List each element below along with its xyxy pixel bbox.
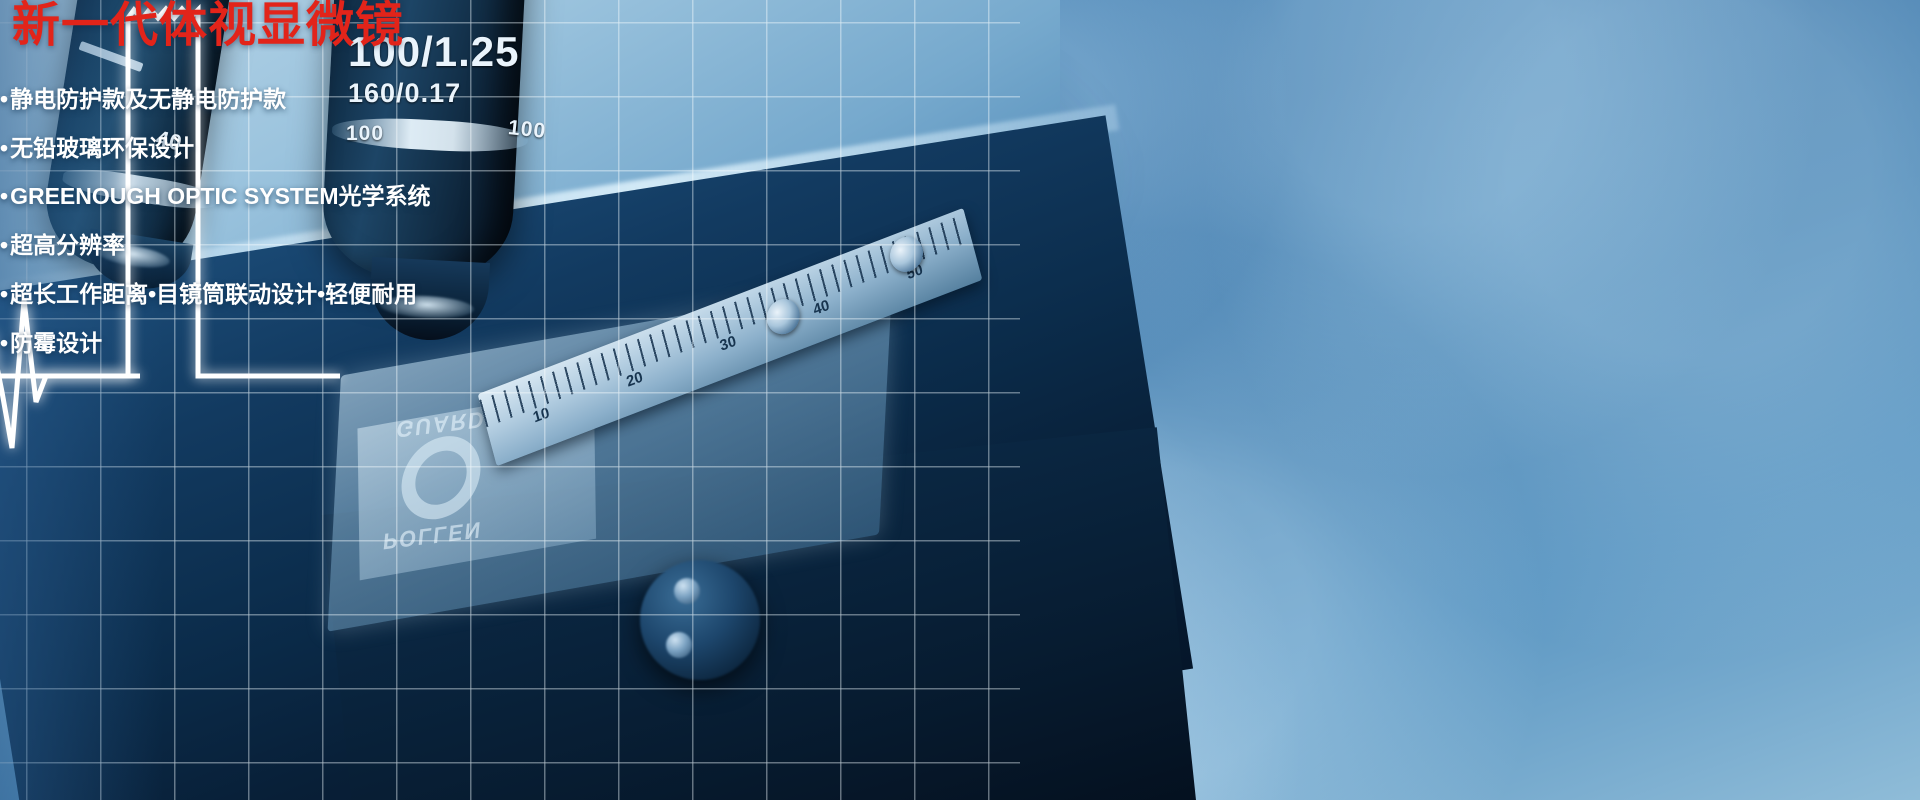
bullet-icon: • [0,86,8,112]
knob-dot [674,578,700,604]
feature-label: GREENOUGH OPTIC SYSTEM光学系统 [10,183,430,209]
bullet-icon: • [0,183,8,209]
bullet-icon: • [0,232,8,258]
feature-item-4: •超高分辨率 [0,233,640,259]
feature-label: 静电防护款及无静电防护款 [10,86,286,112]
feature-label: 防霉设计 [10,330,102,356]
feature-label: 超长工作距离•目镜筒联动设计•轻便耐用 [10,281,417,307]
banner-text-block: 新一代体视显微镜 •静电防护款及无静电防护款 •无铅玻璃环保设计 •GREENO… [0,0,640,379]
product-banner: GUARD POLLEN 10 20 30 40 50 40 1 [0,0,1920,800]
feature-label: 无铅玻璃环保设计 [10,135,194,161]
stage-adjustment-knob [640,560,760,680]
bullet-icon: • [0,135,8,161]
feature-item-2: •无铅玻璃环保设计 [0,136,640,162]
feature-item-6: •防霉设计 [0,331,640,357]
feature-item-1: •静电防护款及无静电防护款 [0,87,640,113]
knob-dot [666,632,692,658]
bullet-icon: • [0,330,8,356]
feature-item-5: •超长工作距离•目镜筒联动设计•轻便耐用 [0,282,640,308]
page-title: 新一代体视显微镜 [12,0,640,53]
feature-item-3: •GREENOUGH OPTIC SYSTEM光学系统 [0,184,640,210]
feature-label: 超高分辨率 [10,232,125,258]
bullet-icon: • [0,281,8,307]
